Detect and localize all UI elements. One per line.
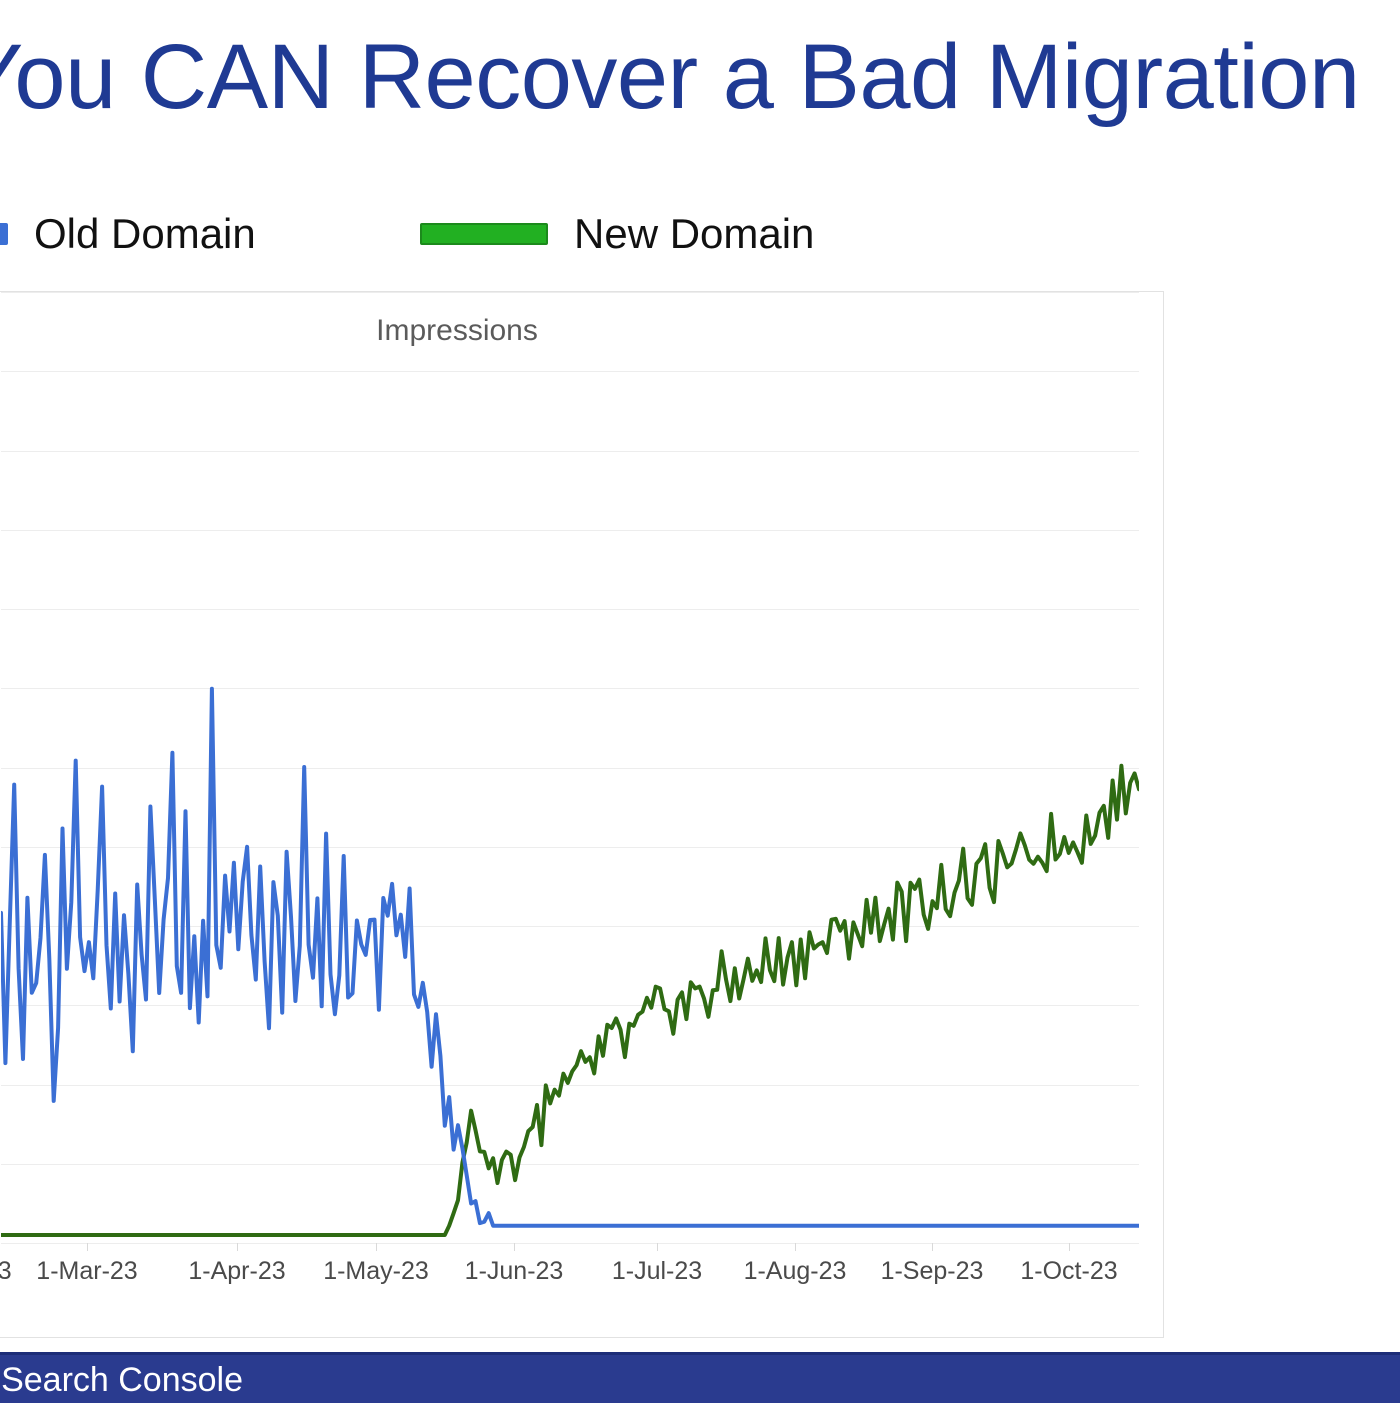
- old-domain-line: [1, 689, 1139, 1226]
- legend-item-old-domain: Old Domain: [0, 206, 256, 262]
- legend-item-new-domain: New Domain: [420, 206, 814, 262]
- x-axis-tick: [657, 1243, 658, 1251]
- x-axis-label: 1-Apr-23: [188, 1257, 285, 1286]
- new-domain-line: [1, 766, 1139, 1235]
- footer-bar: Google Search Console: [0, 1352, 1400, 1403]
- x-axis-label: 1-Feb-23: [0, 1257, 12, 1286]
- x-axis-label: 1-May-23: [323, 1257, 429, 1286]
- series-lines: [1, 292, 1139, 1243]
- x-axis-label: 1-Aug-23: [744, 1257, 847, 1286]
- legend-label-old-domain: Old Domain: [34, 210, 256, 258]
- x-axis-tick: [1069, 1243, 1070, 1251]
- x-axis-label: 1-Oct-23: [1020, 1257, 1117, 1286]
- new-domain-swatch: [420, 223, 548, 245]
- old-domain-swatch: [0, 223, 8, 245]
- x-axis-label: 1-Mar-23: [36, 1257, 137, 1286]
- x-axis-label: 1-Jul-23: [612, 1257, 702, 1286]
- x-axis: 1-Feb-231-Mar-231-Apr-231-May-231-Jun-23…: [1, 1243, 1139, 1313]
- x-axis-tick: [795, 1243, 796, 1251]
- plot-area: [1, 292, 1139, 1243]
- x-axis-label: 1-Sep-23: [881, 1257, 984, 1286]
- page-title: You CAN Recover a Bad Migration: [0, 22, 1400, 132]
- x-axis-tick: [932, 1243, 933, 1251]
- impressions-chart-panel: Impressions 1-Feb-231-Mar-231-Apr-231-Ma…: [0, 291, 1164, 1338]
- legend-label-new-domain: New Domain: [574, 210, 814, 258]
- x-axis-tick: [237, 1243, 238, 1251]
- footer-source-label: Google Search Console: [0, 1361, 243, 1400]
- x-axis-tick: [87, 1243, 88, 1251]
- x-axis-label: 1-Jun-23: [465, 1257, 564, 1286]
- x-axis-tick: [514, 1243, 515, 1251]
- x-axis-tick: [376, 1243, 377, 1251]
- chart-legend: Old Domain New Domain: [0, 206, 1180, 266]
